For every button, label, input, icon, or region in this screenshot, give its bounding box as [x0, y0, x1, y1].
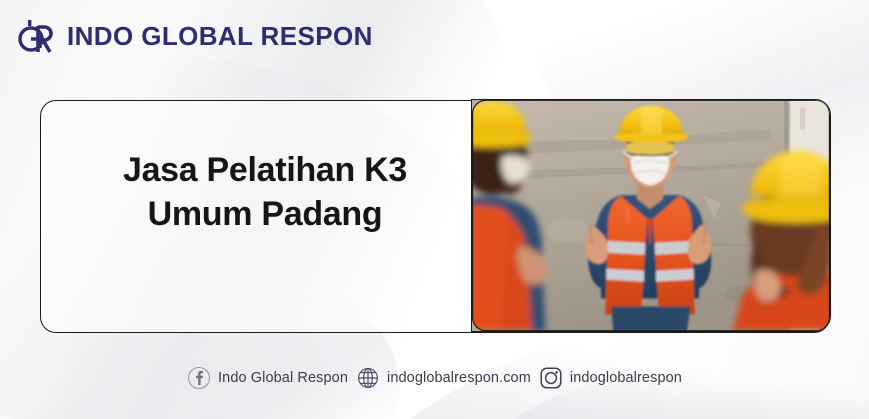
banner-canvas: INDO GLOBAL RESPON Jasa Pelatihan K3 Umu… — [0, 0, 869, 419]
facebook-icon — [187, 366, 211, 390]
card-title: Jasa Pelatihan K3 Umum Padang — [65, 149, 465, 236]
instagram-icon — [539, 366, 563, 390]
card-title-line-1: Jasa Pelatihan K3 — [65, 149, 465, 193]
globe-icon — [356, 366, 380, 390]
photo-illustration — [472, 100, 830, 331]
footer-item-instagram[interactable]: indoglobalrespon — [535, 366, 686, 390]
igr-monogram-icon — [14, 14, 58, 58]
footer-label-instagram: indoglobalrespon — [570, 370, 682, 386]
footer-item-website[interactable]: indoglobalrespon.com — [352, 366, 535, 390]
footer-item-facebook[interactable]: Indo Global Respon — [183, 366, 352, 390]
footer-contact-bar: Indo Global Respon indoglobalrespon.com — [0, 366, 869, 390]
footer-label-website: indoglobalrespon.com — [387, 370, 531, 386]
safety-briefing-photo — [471, 99, 831, 332]
brand-header: INDO GLOBAL RESPON — [14, 14, 373, 58]
content-card: Jasa Pelatihan K3 Umum Padang — [40, 100, 830, 333]
card-title-line-2: Umum Padang — [65, 193, 465, 237]
footer-label-facebook: Indo Global Respon — [218, 370, 348, 386]
brand-name: INDO GLOBAL RESPON — [67, 21, 373, 52]
